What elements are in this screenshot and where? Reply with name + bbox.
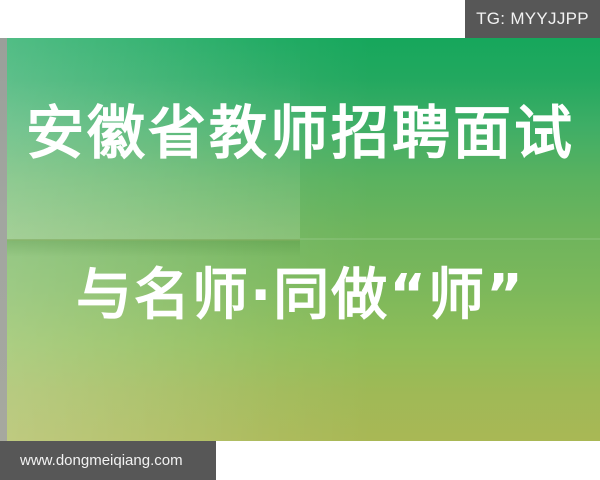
banner-seam-line [7, 239, 300, 241]
tg-watermark-label: TG: MYYJJPP [476, 9, 589, 29]
bottom-white-fill [216, 441, 600, 480]
tg-watermark-badge: TG: MYYJJPP [465, 0, 600, 38]
banner-canvas: TG: MYYJJPP 安徽省教师招聘面试 与名师·同做“师” www.dong… [0, 0, 600, 480]
green-gradient-banner: 安徽省教师招聘面试 与名师·同做“师” [0, 38, 600, 441]
banner-seam-line-right [300, 238, 600, 240]
site-watermark-label: www.dongmeiqiang.com [0, 452, 183, 469]
headline-line-1: 安徽省教师招聘面试 [26, 104, 575, 162]
banner-seam-shadow [7, 241, 300, 257]
banner-left-edge-strip [0, 38, 7, 441]
headline-line-2: 与名师·同做“师” [76, 268, 525, 324]
site-watermark-bar: www.dongmeiqiang.com [0, 441, 216, 480]
